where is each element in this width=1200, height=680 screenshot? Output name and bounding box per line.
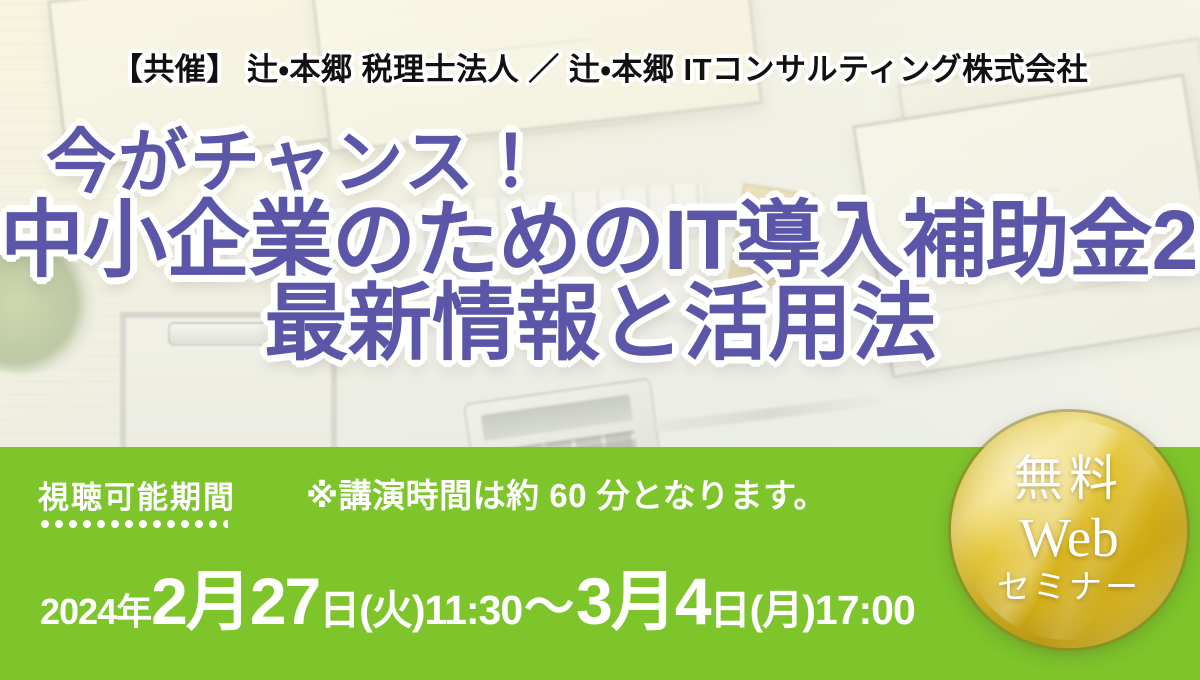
badge-line-web: Web [997, 507, 1141, 569]
date-start-day: 27 [250, 572, 319, 631]
headline-block: 今がチャンス！ 中小企業のためのIT導入補助金2024 最新情報と活用法 [0, 126, 1200, 368]
dotted-underline [38, 520, 228, 528]
date-year: 2024年 [40, 583, 151, 635]
badge-text-block: 無料 Web セミナー [997, 453, 1141, 606]
badge-line-free: 無料 [997, 453, 1141, 504]
date-end-day: 4 [675, 572, 710, 631]
date-start-day-unit: 日 [319, 576, 359, 636]
date-start-time: 11:30 [425, 587, 523, 634]
headline-line-2: 中小企業のためのIT導入補助金2024 [0, 197, 1200, 284]
date-end-time: 17:00 [815, 587, 915, 634]
date-end-day-unit: 日 [710, 576, 750, 636]
viewing-date-range: 2024年 2月 27 日 (火) 11:30 〜 3月 4 日 (月) 17:… [40, 567, 915, 639]
date-range-separator: 〜 [522, 567, 576, 639]
headline-line-3: 最新情報と活用法 [0, 280, 1200, 367]
duration-note: ※講演時間は約 60 分となります。 [306, 469, 827, 517]
date-end-weekday: (月) [750, 576, 815, 636]
headline-line-1: 今がチャンス！ [0, 126, 1200, 199]
date-end-month: 3月 [576, 572, 675, 631]
viewing-period-label: 視聴可能期間 [38, 472, 236, 517]
badge-line-seminar: セミナー [997, 570, 1141, 606]
cohost-line: 【共催】 辻・本郷 税理士法人 ／ 辻・本郷 ITコンサルティング株式会社 [0, 44, 1200, 89]
free-webinar-badge: 無料 Web セミナー [951, 412, 1187, 648]
date-start-month: 2月 [151, 572, 250, 631]
date-start-weekday: (火) [359, 576, 424, 636]
seminar-banner: 【共催】 辻・本郷 税理士法人 ／ 辻・本郷 ITコンサルティング株式会社 今が… [0, 0, 1200, 680]
